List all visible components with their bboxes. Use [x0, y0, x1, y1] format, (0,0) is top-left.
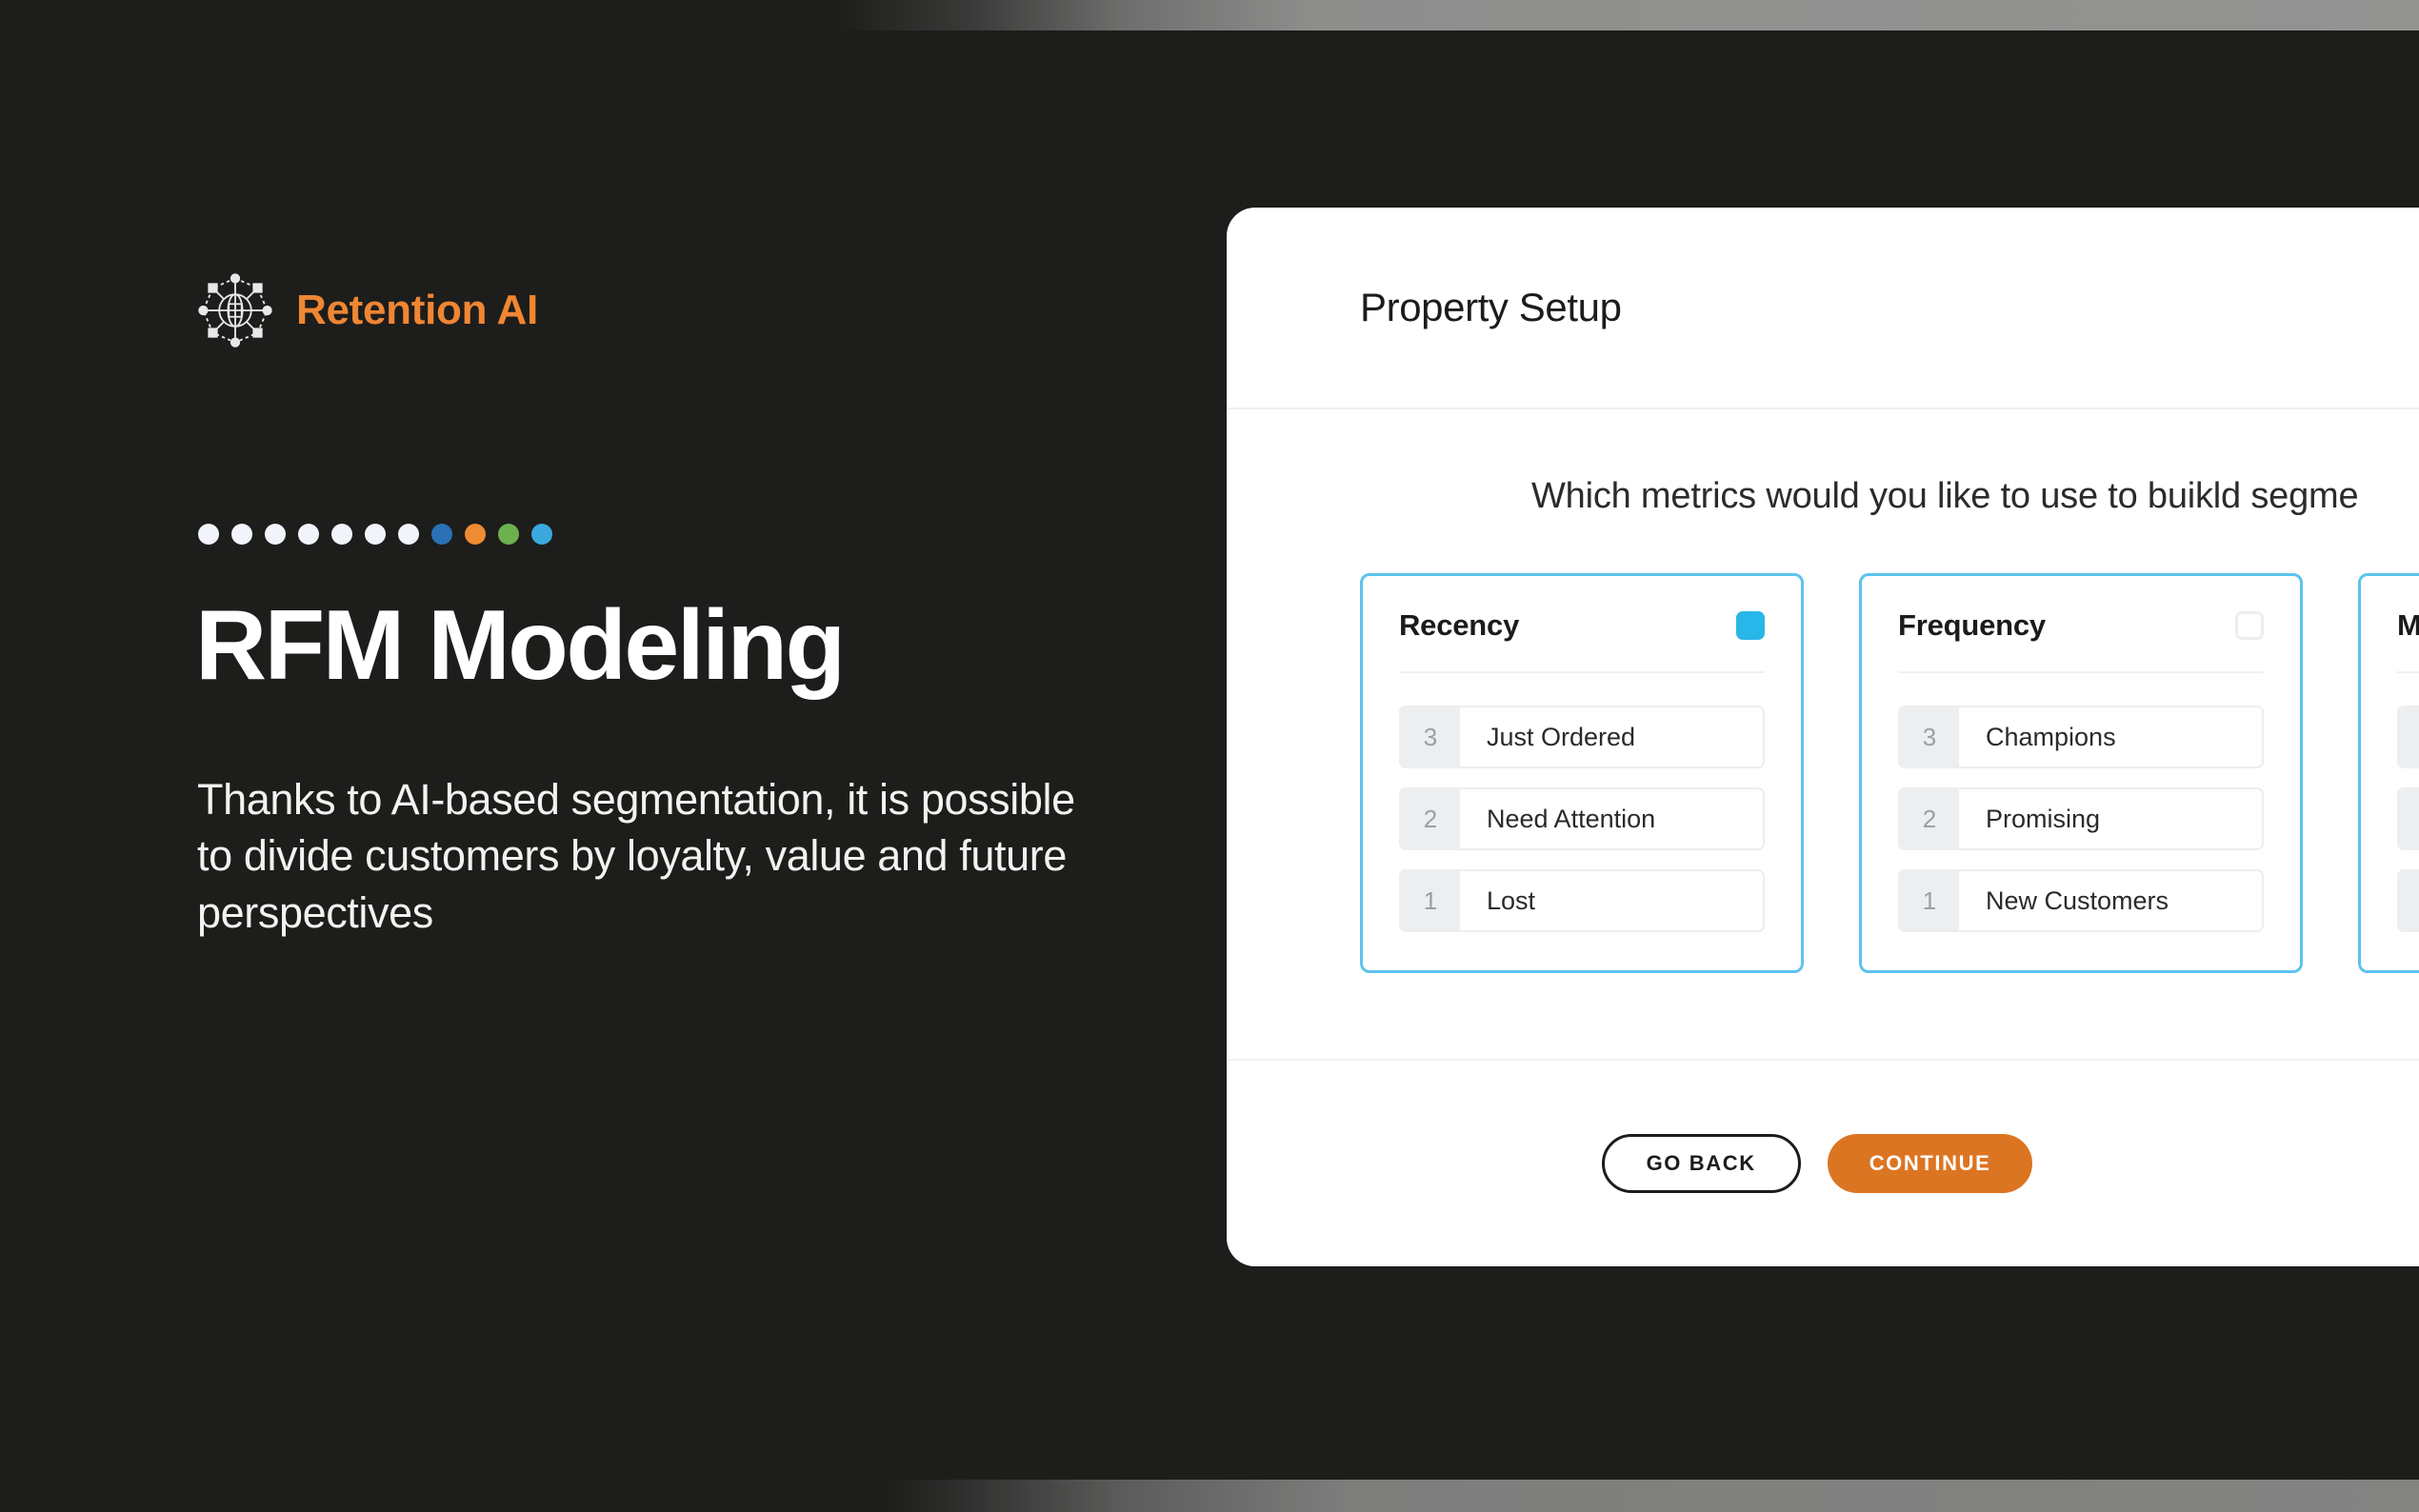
rank-badge: 3	[1401, 707, 1460, 766]
metric-item-list: 3 Champions 2 Promising 1 New Customers	[1898, 706, 2264, 932]
rank-badge: 2	[1401, 789, 1460, 848]
rank-badge: 1	[1401, 871, 1460, 930]
network-globe-icon	[195, 270, 275, 350]
metric-card-recency[interactable]: Recency 3 Just Ordered 2 Need Attention	[1360, 573, 1804, 973]
metric-card-header: Recency	[1399, 608, 1765, 673]
continue-button[interactable]: CONTINUE	[1828, 1134, 2033, 1193]
go-back-button[interactable]: GO BACK	[1602, 1134, 1801, 1193]
segment-label: Need Attention	[1460, 789, 1763, 848]
question-text: Which metrics would you like to use to b…	[1531, 476, 2358, 517]
list-item[interactable]: 1 Lost	[1399, 869, 1765, 932]
list-item[interactable]: 1	[2397, 869, 2419, 932]
metric-card-header: Mo	[2397, 608, 2419, 673]
brand-lockup: Retention AI	[195, 270, 538, 350]
page-title: RFM Modeling	[195, 594, 844, 698]
progress-dot[interactable]	[465, 524, 486, 545]
list-item[interactable]: 3 Champions	[1898, 706, 2264, 768]
slide-description: Thanks to AI-based segmentation, it is p…	[197, 771, 1092, 941]
metric-card-list: Recency 3 Just Ordered 2 Need Attention	[1360, 573, 2419, 973]
window-body: Which metrics would you like to use to b…	[1227, 409, 2419, 1059]
brand-name: Retention AI	[296, 287, 538, 334]
bottom-chrome-band	[0, 1480, 2419, 1512]
metric-card-header: Frequency	[1898, 608, 2264, 673]
progress-dot[interactable]	[198, 524, 219, 545]
progress-dot[interactable]	[298, 524, 319, 545]
rank-badge: 1	[2399, 871, 2419, 930]
metric-title: Recency	[1399, 608, 1519, 643]
segment-label: Just Ordered	[1460, 707, 1763, 766]
progress-dot[interactable]	[265, 524, 286, 545]
metric-item-list: 3 2 1	[2397, 706, 2419, 932]
segment-label: Promising	[1959, 789, 2262, 848]
metric-card-monetary[interactable]: Mo 3 2 1	[2358, 573, 2419, 973]
list-item[interactable]: 3 Just Ordered	[1399, 706, 1765, 768]
metric-title: Mo	[2397, 608, 2419, 643]
rank-badge: 2	[1900, 789, 1959, 848]
property-setup-window: Property Setup Which metrics would you l…	[1227, 208, 2419, 1266]
list-item[interactable]: 2 Promising	[1898, 787, 2264, 850]
progress-dot[interactable]	[498, 524, 519, 545]
rank-badge: 1	[1900, 871, 1959, 930]
segment-label: New Customers	[1959, 871, 2262, 930]
metric-item-list: 3 Just Ordered 2 Need Attention 1 Lost	[1399, 706, 1765, 932]
metric-title: Frequency	[1898, 608, 2046, 643]
window-header: Property Setup	[1227, 208, 2419, 409]
list-item[interactable]: 2 Need Attention	[1399, 787, 1765, 850]
window-title: Property Setup	[1360, 285, 1622, 330]
segment-label: Champions	[1959, 707, 2262, 766]
list-item[interactable]: 2	[2397, 787, 2419, 850]
progress-dot[interactable]	[398, 524, 419, 545]
progress-dot[interactable]	[365, 524, 386, 545]
rank-badge: 3	[2399, 707, 2419, 766]
segment-label: Lost	[1460, 871, 1763, 930]
progress-dot[interactable]	[431, 524, 452, 545]
progress-dot[interactable]	[231, 524, 252, 545]
list-item[interactable]: 3	[2397, 706, 2419, 768]
rank-badge: 3	[1900, 707, 1959, 766]
progress-dots	[198, 524, 552, 545]
rank-badge: 2	[2399, 789, 2419, 848]
top-chrome-band	[0, 0, 2419, 30]
progress-dot[interactable]	[531, 524, 552, 545]
progress-dot[interactable]	[331, 524, 352, 545]
slide-canvas: Retention AI RFM Modeling Thanks to AI-b…	[0, 0, 2419, 1512]
list-item[interactable]: 1 New Customers	[1898, 869, 2264, 932]
metric-card-frequency[interactable]: Frequency 3 Champions 2 Promising	[1859, 573, 2303, 973]
checkbox-unchecked-icon[interactable]	[2235, 611, 2264, 640]
checkbox-checked-icon[interactable]	[1736, 611, 1765, 640]
left-panel: Retention AI RFM Modeling Thanks to AI-b…	[0, 30, 1229, 1480]
window-footer: GO BACK CONTINUE	[1227, 1059, 2419, 1266]
